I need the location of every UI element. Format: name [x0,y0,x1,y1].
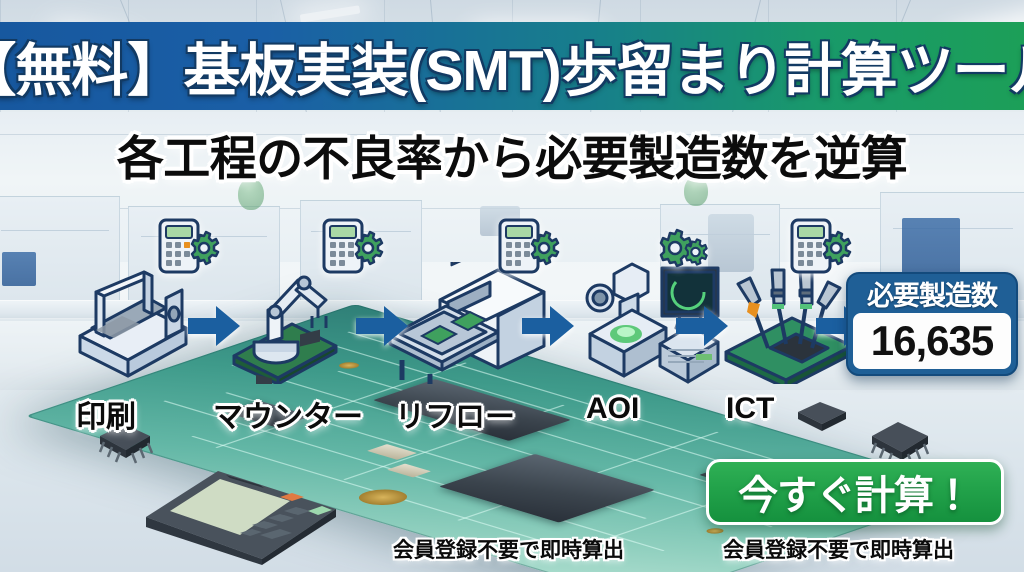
page-title: 【無料】基板実装(SMT)歩留まり計算ツール [0,25,1024,107]
calculator-gear-icon [158,218,222,278]
calculator-gear-icon [648,218,712,278]
note-right: 会員登録不要で即時算出 [723,534,954,564]
process-label-mounter: マウンター [213,392,363,436]
calculator-gear-icon [498,218,562,278]
page-subtitle: 各工程の不良率から必要製造数を逆算 [117,120,908,189]
screen-printer-icon [70,264,190,384]
banner-canvas: 【無料】基板実装(SMT)歩留まり計算ツール 各工程の不良率から必要製造数を逆算… [0,0,1024,572]
process-label-reflow: リフロー [395,392,515,436]
desk-calculator [140,455,330,555]
process-label-ict: ICT [726,392,774,426]
process-labels: 印刷 マウンター リフロー AOI ICT [0,392,1024,432]
required-quantity-value: 16,635 [871,317,993,365]
subtitle-wrap: 各工程の不良率から必要製造数を逆算 [0,118,1024,190]
required-quantity-value-box: 16,635 [853,313,1011,369]
process-label-aoi: AOI [586,392,639,426]
flow-arrow-4 [674,302,730,350]
note-left: 会員登録不要で即時算出 [393,534,624,564]
flow-arrow-1 [186,302,242,350]
header-title-bar: 【無料】基板実装(SMT)歩留まり計算ツール [0,22,1024,110]
required-quantity-label: 必要製造数 [853,279,1011,313]
process-label-print: 印刷 [76,392,136,436]
calculator-gear-icon [322,218,386,278]
calculator-gear-icon [790,218,854,278]
calculate-now-label: 今すぐ計算！ [738,463,972,521]
flow-arrow-3 [520,302,576,350]
required-quantity-badge: 必要製造数 16,635 [846,272,1018,376]
calculate-now-button[interactable]: 今すぐ計算！ [706,459,1004,525]
flow-arrow-2 [354,302,410,350]
